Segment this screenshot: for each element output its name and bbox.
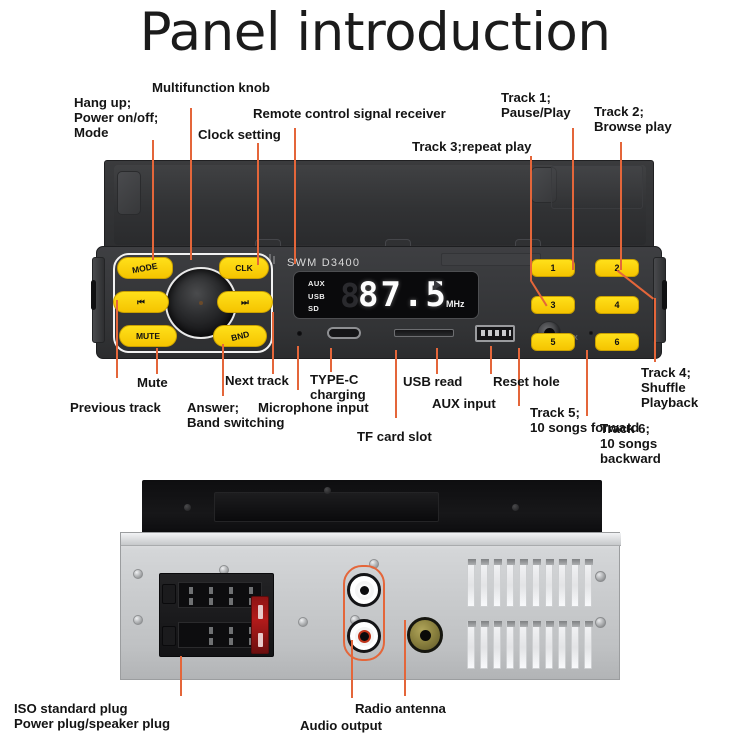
- ventilation-slots: [467, 559, 595, 669]
- callout-track2: Track 2; Browse play: [594, 104, 672, 134]
- callout-type-c: TYPE-C charging: [310, 372, 366, 402]
- clock-button[interactable]: CLK: [219, 257, 269, 279]
- iso-ear-top: [162, 584, 176, 604]
- housing-clip-left: [117, 171, 141, 215]
- callout-track3: Track 3;repeat play: [412, 139, 532, 154]
- preset-button-1[interactable]: 1: [531, 259, 575, 277]
- usb-a-port[interactable]: [475, 325, 515, 342]
- previous-track-button[interactable]: ⏮: [113, 291, 169, 313]
- callout-reset-hole: Reset hole: [493, 374, 560, 389]
- callout-usb-read: USB read: [403, 374, 462, 389]
- play-indicator-icon: [434, 280, 441, 290]
- next-track-button[interactable]: ⏭: [217, 291, 273, 313]
- leader-track2: [620, 142, 622, 270]
- callout-radio-antenna: Radio antenna: [355, 701, 446, 716]
- side-slot-left: [91, 280, 96, 310]
- callout-previous-track: Previous track: [70, 400, 161, 415]
- leader-track1: [572, 128, 574, 270]
- iso-pin-row-bottom: [178, 622, 262, 648]
- callout-multifunction-knob: Multifunction knob: [152, 80, 270, 95]
- indicator-sd: SD: [308, 303, 338, 316]
- chassis-screw-bl: [133, 615, 143, 625]
- leader-type-c: [330, 348, 332, 372]
- brand-label: SWM D3400: [287, 257, 360, 269]
- leader-tf-card: [395, 350, 397, 418]
- preset-button-6[interactable]: 6: [595, 333, 639, 351]
- preset-button-2[interactable]: 2: [595, 259, 639, 277]
- callout-clock-setting: Clock setting: [198, 127, 281, 142]
- housing-right-plate: [551, 165, 643, 209]
- face-accent-plate: [441, 253, 541, 266]
- leader-aux-input: [490, 346, 492, 374]
- front-face: SWM D3400 MODE CLK ⏮ ⏭ MUTE BND: [96, 246, 662, 359]
- rear-screw-left: [184, 504, 191, 511]
- iso-ear-bottom: [162, 626, 176, 646]
- callout-hang-up: Hang up; Power on/off; Mode: [74, 95, 158, 140]
- callout-iso-plug: ISO standard plug Power plug/speaker plu…: [14, 701, 170, 731]
- rca-jack-white[interactable]: [347, 573, 381, 607]
- callout-track6: Track 6; 10 songs backward: [600, 421, 661, 466]
- display-frequency-unit: MHz: [446, 299, 465, 309]
- display-ghost-digit: 8: [340, 279, 360, 312]
- callout-track4: Track 4; Shuffle Playback: [641, 365, 698, 410]
- leader-clock-setting: [257, 143, 259, 265]
- face-tick-2: [273, 256, 275, 264]
- callout-next-track: Next track: [225, 373, 289, 388]
- callout-tf-card-slot: TF card slot: [357, 429, 432, 444]
- antenna-hole: [420, 630, 431, 641]
- radio-antenna-jack[interactable]: [407, 617, 443, 653]
- leader-microphone: [297, 346, 299, 390]
- preset-button-3[interactable]: 3: [531, 296, 575, 314]
- callout-microphone-input: Microphone input: [258, 400, 369, 415]
- leader-next-track: [272, 312, 274, 374]
- leader-mute: [156, 348, 158, 374]
- leader-usb-read: [436, 348, 438, 374]
- rear-top-bar: [214, 492, 439, 522]
- led-display: AUX USB SD 8 87.5 MHz: [293, 271, 479, 319]
- leader-radio-antenna: [404, 620, 406, 696]
- leader-hang-up: [152, 140, 154, 260]
- page-title: Panel introduction: [0, 2, 750, 63]
- display-indicators: AUX USB SD: [308, 278, 338, 316]
- fuse-holder: [251, 596, 269, 654]
- preset-button-5[interactable]: 5: [531, 333, 575, 351]
- callout-audio-output: Audio output: [300, 718, 382, 733]
- face-side-left: [92, 257, 105, 343]
- callout-mute: Mute: [137, 375, 168, 390]
- side-slot-right: [662, 280, 667, 310]
- indicator-aux: AUX: [308, 278, 338, 291]
- rear-screw-right: [512, 504, 519, 511]
- iso-pin-row-top: [178, 582, 262, 608]
- leader-audio-output: [351, 640, 353, 698]
- iso-standard-plug[interactable]: [159, 573, 274, 657]
- microphone-input-hole: [297, 331, 302, 336]
- chassis-lip: [121, 533, 621, 546]
- rear-top-bracket: [142, 480, 602, 536]
- leader-remote-receiver: [294, 128, 296, 264]
- band-button-label: BND: [230, 329, 250, 343]
- mute-button[interactable]: MUTE: [119, 325, 177, 347]
- control-cluster: MODE CLK ⏮ ⏭ MUTE BND: [113, 253, 273, 353]
- leader-previous-track: [116, 300, 118, 378]
- leader-track4: [654, 298, 656, 362]
- front-panel-illustration: SWM D3400 MODE CLK ⏮ ⏭ MUTE BND: [96, 160, 662, 365]
- mode-power-button[interactable]: MODE: [117, 257, 173, 279]
- chassis-screw-tr: [595, 571, 606, 582]
- usb-type-c-port[interactable]: [327, 327, 361, 339]
- rear-chassis: [120, 532, 620, 680]
- rear-screw-center: [324, 487, 331, 494]
- leader-multifunction-knob: [190, 108, 192, 260]
- tf-card-slot[interactable]: [394, 329, 454, 337]
- callout-remote-receiver: Remote control signal receiver: [253, 106, 446, 121]
- chassis-screw-tl: [133, 569, 143, 579]
- chassis-screw-br: [595, 617, 606, 628]
- callout-aux-input: AUX input: [432, 396, 496, 411]
- usb-a-tongue: [481, 330, 511, 336]
- panel-introduction-diagram: Panel introduction SWM D3400: [0, 0, 750, 750]
- chassis-screw-mid: [298, 617, 308, 627]
- callout-track1: Track 1; Pause/Play: [501, 90, 571, 120]
- indicator-usb: USB: [308, 291, 338, 304]
- mode-button-label: MODE: [132, 261, 159, 276]
- leader-answer-band: [222, 344, 224, 396]
- rear-panel-illustration: [120, 480, 620, 692]
- preset-button-4[interactable]: 4: [595, 296, 639, 314]
- leader-track3: [530, 156, 532, 281]
- leader-iso-plug: [180, 656, 182, 696]
